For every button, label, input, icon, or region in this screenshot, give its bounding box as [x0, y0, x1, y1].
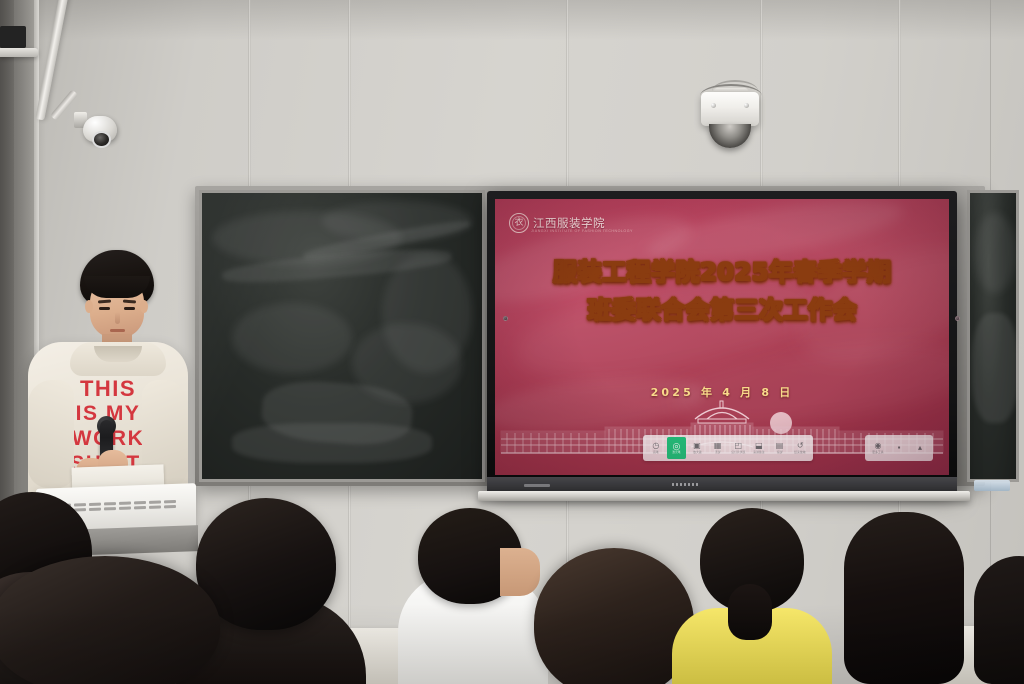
display-shelf-rail [478, 491, 970, 501]
camera-lens-icon [92, 131, 111, 148]
more-tools-icon: ◉ [875, 442, 882, 450]
speaker-notes-icon: ⬓ [755, 442, 763, 450]
camera-screw-icon [744, 103, 749, 108]
presenter-ear-right [140, 300, 148, 313]
toolbar-slidebrowser-button[interactable]: ◰ 幻灯片浏览 [729, 437, 749, 459]
institution-name-en: JIANGXI INSTITUTE OF FASHION TECHNOLOGY [531, 229, 633, 233]
presentation-toolbar-secondary[interactable]: ◉ 更多工具 ▪ ▴ [865, 435, 933, 461]
wall-shelf-bracket [0, 48, 38, 57]
slide-title-block: 服装工程学院2025年春季学期 班委联合会第三次工作会 [495, 253, 949, 329]
toolbar-more-button[interactable]: ◉ 更多工具 [868, 437, 888, 459]
cast-icon: ▤ [776, 442, 784, 450]
display-status-indicators [672, 483, 698, 486]
chalkboard-right-panel [967, 190, 1019, 482]
wall-top-shading [0, 0, 1024, 40]
classroom-photo-scene: 衣 江西服装学院 JIANGXI INSTITUTE OF FASHION TE… [0, 0, 1024, 684]
magnifier-icon: ▣ [693, 442, 701, 450]
toolbar-laser-button[interactable]: ◎ 激光笔 [667, 437, 687, 459]
audience-head [974, 556, 1024, 684]
pen-icon: ◷ [652, 442, 659, 450]
toolbar-blackscreen-label: 黑屏 [715, 451, 721, 454]
toolbar-magnifier-label: 放大镜 [693, 451, 702, 454]
toolbar-extra-button-1[interactable]: ▪ [889, 437, 909, 459]
toolbar-more-label: 更多工具 [872, 451, 883, 454]
toolbar-notes-label: 演讲备注 [753, 451, 764, 454]
toolbar-cast-button[interactable]: ▤ 投屏 [770, 437, 790, 459]
slide-title-line-1: 服装工程学院2025年春季学期 [495, 253, 949, 291]
emblem-glyph: 衣 [514, 219, 523, 228]
display-screw-icon [955, 316, 960, 321]
display-brand-mark [524, 484, 550, 487]
slide-browser-icon: ◰ [735, 442, 743, 450]
audience-ponytail [728, 584, 772, 640]
toolbar-pen-label: 画笔 [653, 451, 659, 454]
toolbar-magnifier-button[interactable]: ▣ 放大镜 [687, 437, 707, 459]
toolbar-extra-button-2[interactable]: ▴ [910, 437, 930, 459]
university-emblem-icon: 衣 [509, 213, 529, 233]
toolbar-slidebrowser-label: 幻灯片浏览 [731, 451, 745, 454]
presenter-nose [115, 312, 120, 324]
toolbar-blackscreen-button[interactable]: ▦ 黑屏 [708, 437, 728, 459]
caret-up-icon: ▴ [918, 444, 922, 452]
presenter-eye-right [124, 307, 135, 310]
audience-face-profile [500, 548, 540, 596]
presenter-mouth [110, 329, 125, 332]
square-icon: ▪ [898, 444, 901, 452]
presenter-ear-left [85, 300, 93, 313]
presenter-arm-left [28, 380, 74, 488]
wall-sensor-box [0, 26, 26, 48]
toolbar-endshow-button[interactable]: ↺ 结束放映 [790, 437, 810, 459]
presentation-toolbar[interactable]: ◷ 画笔 ◎ 激光笔 ▣ 放大镜 ▦ 黑屏 ◰ 幻灯片浏览 ⬓ 演讲备注 [643, 435, 813, 461]
toolbar-endshow-label: 结束放映 [794, 451, 805, 454]
toolbar-laser-label: 激光笔 [672, 451, 681, 454]
laser-pointer-icon: ◎ [673, 442, 681, 450]
camera-screw-icon [711, 103, 716, 108]
interactive-display-screen[interactable]: 衣 江西服装学院 JIANGXI INSTITUTE OF FASHION TE… [495, 199, 949, 475]
presenter-eye-left [99, 307, 110, 310]
chalkboard-left-panel [199, 190, 485, 482]
toolbar-cast-label: 投屏 [777, 451, 783, 454]
audience-head [844, 512, 964, 684]
slide-title-line-2: 班委联合会第三次工作会 [495, 291, 949, 329]
toolbar-pen-button[interactable]: ◷ 画笔 [646, 437, 666, 459]
security-camera-top [701, 92, 759, 126]
end-show-icon: ↺ [797, 442, 804, 450]
display-screw-icon [503, 316, 508, 321]
toolbar-notes-button[interactable]: ⬓ 演讲备注 [749, 437, 769, 459]
display-ir-receiver [974, 480, 1010, 491]
black-screen-icon: ▦ [714, 442, 722, 450]
